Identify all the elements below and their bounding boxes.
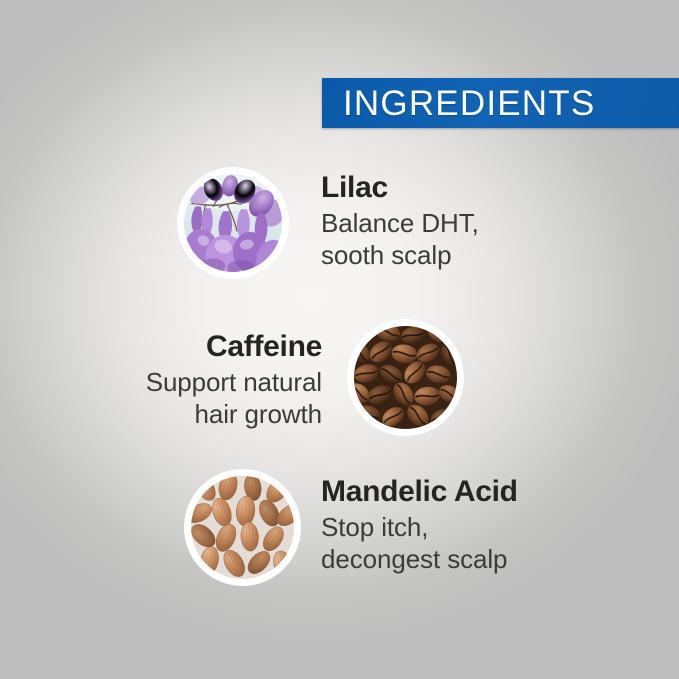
ingredient-name-lilac: Lilac [321,172,479,204]
almonds-photo [191,476,294,579]
lilac-text-block: Lilac Balance DHT, sooth scalp [321,172,479,271]
ingredients-infographic: INGREDIENTS [0,0,679,679]
page-title: INGREDIENTS [343,86,595,121]
mandelic-acid-text-block: Mandelic Acid Stop itch, decongest scalp [321,476,518,575]
caffeine-text-block: Caffeine Support natural hair growth [60,331,322,430]
ingredient-name-mandelic-acid: Mandelic Acid [321,476,518,508]
lilac-flowers-photo [184,174,282,272]
coffee-beans-photo [354,326,457,429]
ingredient-description-caffeine: Support natural hair growth [60,367,322,429]
ingredients-header-banner: INGREDIENTS [322,78,679,128]
ingredient-description-lilac: Balance DHT, sooth scalp [321,208,479,270]
ingredient-name-caffeine: Caffeine [60,331,322,363]
ingredient-description-mandelic-acid: Stop itch, decongest scalp [321,512,518,574]
lilac-thumbnail [177,167,289,279]
mandelic-acid-thumbnail [184,469,301,586]
caffeine-thumbnail [347,319,464,436]
